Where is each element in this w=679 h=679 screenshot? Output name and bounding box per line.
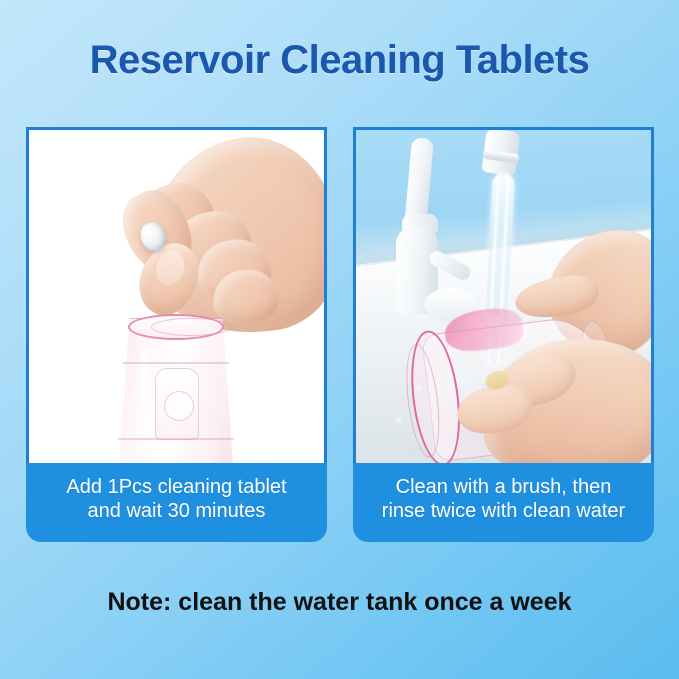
tank-ridge [123,362,229,364]
water-droplet [396,418,401,423]
tank-rim [128,314,224,340]
tank-inner-valve [155,368,199,440]
photo-frame-add-tablet [26,127,327,463]
page-title: Reservoir Cleaning Tablets [0,38,679,83]
steps-container: Add 1Pcs cleaning tablet and wait 30 min… [26,127,654,542]
step-caption-add-tablet: Add 1Pcs cleaning tablet and wait 30 min… [26,463,327,542]
photo-rinse [356,130,651,463]
photo-frame-rinse [353,127,654,463]
note-text: Note: clean the water tank once a week [0,588,679,617]
tank-rim-inner [151,318,231,336]
step-card-rinse: Clean with a brush, then rinse twice wit… [353,127,654,542]
step-caption-rinse: Clean with a brush, then rinse twice wit… [353,463,654,542]
reservoir-tank-upright [115,318,237,463]
step-card-add-tablet: Add 1Pcs cleaning tablet and wait 30 min… [26,127,327,542]
tank-ridge [118,438,234,440]
photo-add-tablet [29,130,324,463]
